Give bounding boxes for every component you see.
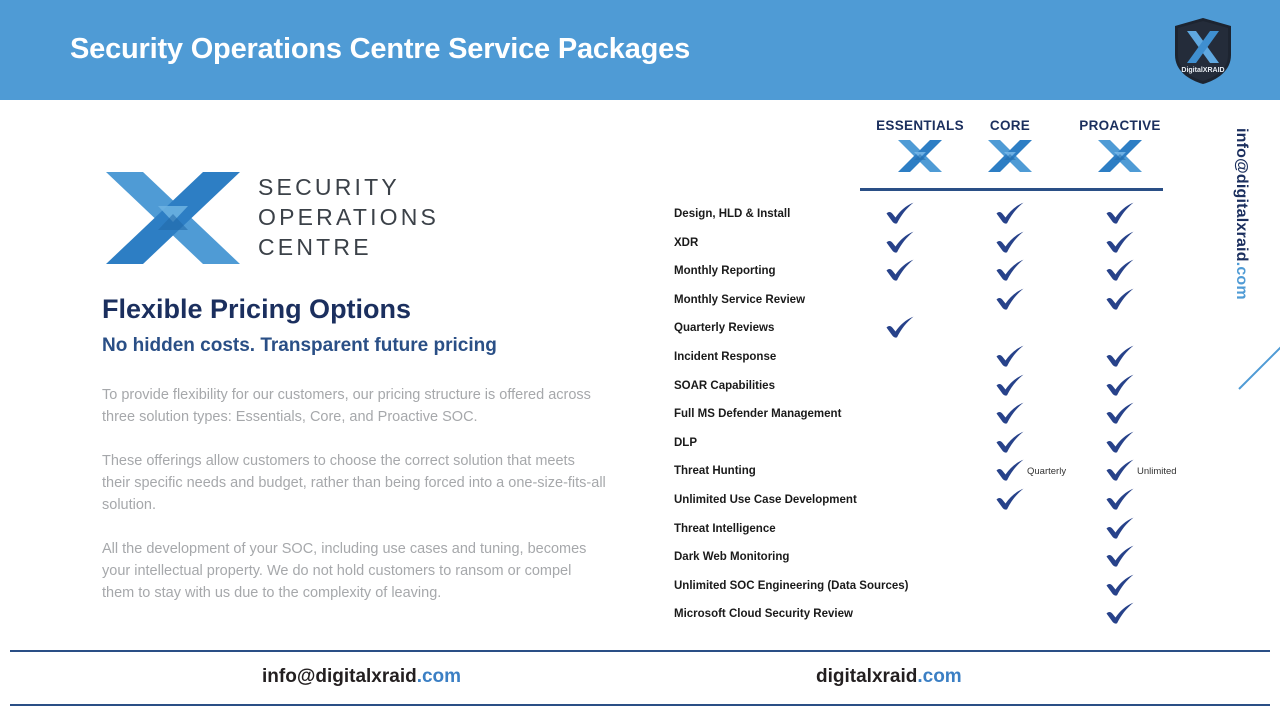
footer-email-local: info@digitalxraid bbox=[262, 666, 417, 687]
side-email-local: info@digitalxraid bbox=[1233, 128, 1250, 262]
check-icon-proactive bbox=[1105, 402, 1135, 424]
matrix-row-label: Incident Response bbox=[674, 351, 776, 363]
side-email-vertical[interactable]: info@digitalxraid.com bbox=[1232, 128, 1250, 300]
check-icon-proactive bbox=[1105, 374, 1135, 396]
check-icon-proactive bbox=[1105, 345, 1135, 367]
matrix-row-label: Microsoft Cloud Security Review bbox=[674, 608, 853, 620]
matrix-row-label: XDR bbox=[674, 237, 698, 249]
matrix-row-label: Monthly Reporting bbox=[674, 265, 776, 277]
check-icon-proactive bbox=[1105, 459, 1135, 481]
footer-website-tld: .com bbox=[917, 666, 961, 687]
footer-website[interactable]: digitalxraid.com bbox=[816, 666, 962, 688]
soc-logo-line-1: SECURITY bbox=[258, 172, 439, 202]
check-icon-core bbox=[995, 488, 1025, 510]
soc-logo-line-3: CENTRE bbox=[258, 232, 439, 262]
check-icon-essentials bbox=[885, 259, 915, 281]
matrix-row-label: Monthly Service Review bbox=[674, 294, 805, 306]
matrix-column-header-core: CORE bbox=[950, 118, 1070, 173]
check-icon-essentials bbox=[885, 316, 915, 338]
soc-logo-text: SECURITY OPERATIONS CENTRE bbox=[258, 172, 439, 262]
footer-email-tld: .com bbox=[417, 666, 461, 687]
check-icon-proactive bbox=[1105, 288, 1135, 310]
matrix-row-label: Threat Intelligence bbox=[674, 523, 776, 535]
section-heading: Flexible Pricing Options bbox=[102, 294, 411, 325]
matrix-row-label: Quarterly Reviews bbox=[674, 322, 774, 334]
decorative-diagonal-line bbox=[1237, 333, 1280, 391]
check-icon-essentials bbox=[885, 231, 915, 253]
soc-x-logo-icon bbox=[103, 168, 243, 268]
package-x-logo-icon bbox=[987, 139, 1033, 173]
soc-logo: SECURITY OPERATIONS CENTRE bbox=[103, 168, 463, 268]
check-icon-core bbox=[995, 202, 1025, 224]
check-icon-proactive bbox=[1105, 488, 1135, 510]
check-icon-proactive bbox=[1105, 574, 1135, 596]
check-icon-proactive bbox=[1105, 431, 1135, 453]
check-icon-proactive bbox=[1105, 517, 1135, 539]
check-icon-proactive bbox=[1105, 602, 1135, 624]
body-paragraph-3: All the development of your SOC, includi… bbox=[102, 538, 607, 604]
side-email-tld: .com bbox=[1233, 262, 1250, 300]
matrix-column-label: CORE bbox=[950, 118, 1070, 133]
matrix-row-label: Design, HLD & Install bbox=[674, 208, 790, 220]
footer-email[interactable]: info@digitalxraid.com bbox=[262, 666, 461, 688]
body-paragraph-1: To provide flexibility for our customers… bbox=[102, 384, 607, 428]
matrix-row-label: DLP bbox=[674, 437, 697, 449]
check-icon-core bbox=[995, 259, 1025, 281]
check-icon-core bbox=[995, 288, 1025, 310]
matrix-header-rule bbox=[860, 188, 1163, 191]
check-icon-core bbox=[995, 402, 1025, 424]
matrix-row-label: Dark Web Monitoring bbox=[674, 551, 789, 563]
check-icon-proactive bbox=[1105, 259, 1135, 281]
soc-logo-line-2: OPERATIONS bbox=[258, 202, 439, 232]
matrix-column-header-proactive: PROACTIVE bbox=[1060, 118, 1180, 173]
page-title: Security Operations Centre Service Packa… bbox=[70, 33, 690, 66]
page-header-bar: Security Operations Centre Service Packa… bbox=[0, 0, 1280, 100]
package-x-logo-icon bbox=[1097, 139, 1143, 173]
check-icon-core bbox=[995, 231, 1025, 253]
matrix-row-label: Full MS Defender Management bbox=[674, 408, 841, 420]
check-icon-core bbox=[995, 459, 1025, 481]
matrix-cell-note: Quarterly bbox=[1027, 466, 1066, 477]
body-paragraph-2: These offerings allow customers to choos… bbox=[102, 450, 607, 516]
matrix-cell-note: Unlimited bbox=[1137, 466, 1177, 477]
check-icon-core bbox=[995, 345, 1025, 367]
check-icon-core bbox=[995, 374, 1025, 396]
matrix-row-label: Unlimited SOC Engineering (Data Sources) bbox=[674, 580, 909, 592]
check-icon-proactive bbox=[1105, 231, 1135, 253]
check-icon-essentials bbox=[885, 202, 915, 224]
check-icon-proactive bbox=[1105, 202, 1135, 224]
matrix-row-label: Unlimited Use Case Development bbox=[674, 494, 857, 506]
matrix-row-label: SOAR Capabilities bbox=[674, 380, 775, 392]
matrix-row-label: Threat Hunting bbox=[674, 465, 756, 477]
footer-top-rule bbox=[10, 650, 1270, 652]
footer-website-local: digitalxraid bbox=[816, 666, 917, 687]
check-icon-proactive bbox=[1105, 545, 1135, 567]
section-subheading: No hidden costs. Transparent future pric… bbox=[102, 335, 497, 357]
package-x-logo-icon bbox=[897, 139, 943, 173]
package-comparison-matrix: ESSENTIALS CORE PROACTIVE Design, HLD & … bbox=[660, 118, 1180, 628]
digitalxraid-shield-logo: DigitalXRAID bbox=[1173, 17, 1233, 85]
check-icon-core bbox=[995, 431, 1025, 453]
matrix-column-label: PROACTIVE bbox=[1060, 118, 1180, 133]
svg-text:DigitalXRAID: DigitalXRAID bbox=[1181, 67, 1224, 74]
footer-bottom-rule bbox=[10, 704, 1270, 706]
